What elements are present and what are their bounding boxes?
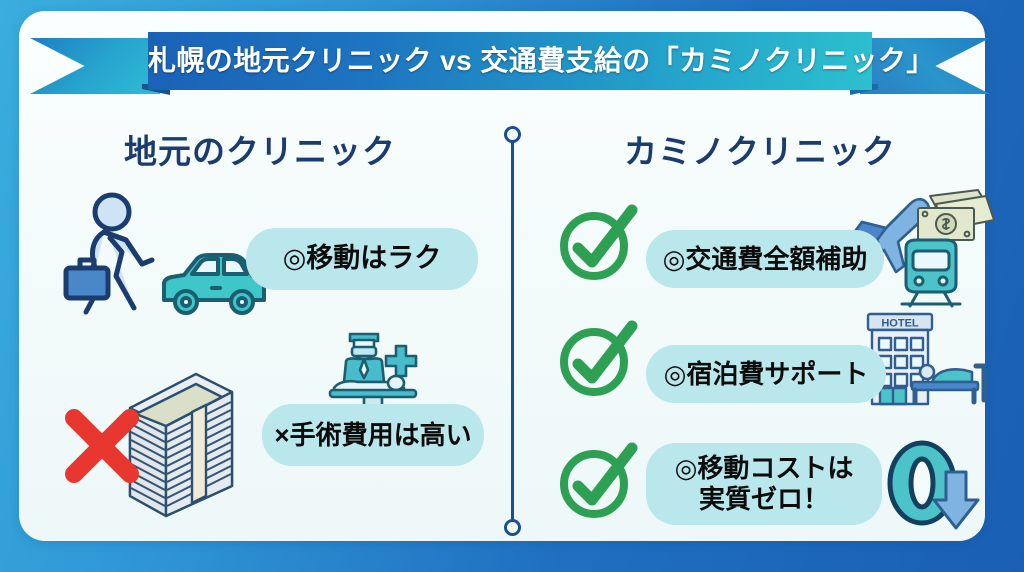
right-item-2-pill: ◎宿泊費サポート bbox=[646, 345, 886, 403]
banner-title: 札幌の地元クリニック vs 交通費支給の「カミノクリニック」 bbox=[148, 32, 872, 90]
green-check-icon bbox=[556, 318, 640, 400]
svg-text:HOTEL: HOTEL bbox=[881, 318, 919, 330]
train-icon bbox=[900, 238, 962, 308]
divider-dot-bottom bbox=[504, 519, 521, 536]
right-column-heading: カミノクリニック bbox=[560, 130, 960, 174]
title-ribbon: 札幌の地元クリニック vs 交通費支給の「カミノクリニック」 bbox=[30, 32, 990, 94]
left-item-1-pill: ◎移動はラク bbox=[246, 228, 478, 290]
left-item-2-pill: ×手術費用は高い bbox=[262, 404, 484, 466]
right-item-3-pill: ◎移動コストは 実質ゼロ！ bbox=[646, 443, 882, 525]
right-item-1-pill: ◎交通費全額補助 bbox=[646, 230, 884, 288]
green-check-icon bbox=[556, 202, 640, 284]
left-column-heading: 地元のクリニック bbox=[60, 130, 460, 174]
green-check-icon bbox=[556, 440, 640, 522]
bed-icon bbox=[910, 358, 988, 406]
red-x-mark-icon bbox=[62, 406, 142, 486]
infographic-canvas: 札幌の地元クリニック vs 交通費支給の「カミノクリニック」 地元のクリニック … bbox=[0, 0, 1024, 572]
vertical-divider bbox=[504, 126, 520, 536]
divider-line bbox=[511, 134, 514, 528]
ribbon-banner-body: 札幌の地元クリニック vs 交通費支給の「カミノクリニック」 bbox=[148, 32, 872, 90]
down-arrow-icon bbox=[930, 468, 982, 532]
divider-dot-top bbox=[504, 126, 521, 143]
ribbon-tail-left bbox=[30, 38, 160, 94]
